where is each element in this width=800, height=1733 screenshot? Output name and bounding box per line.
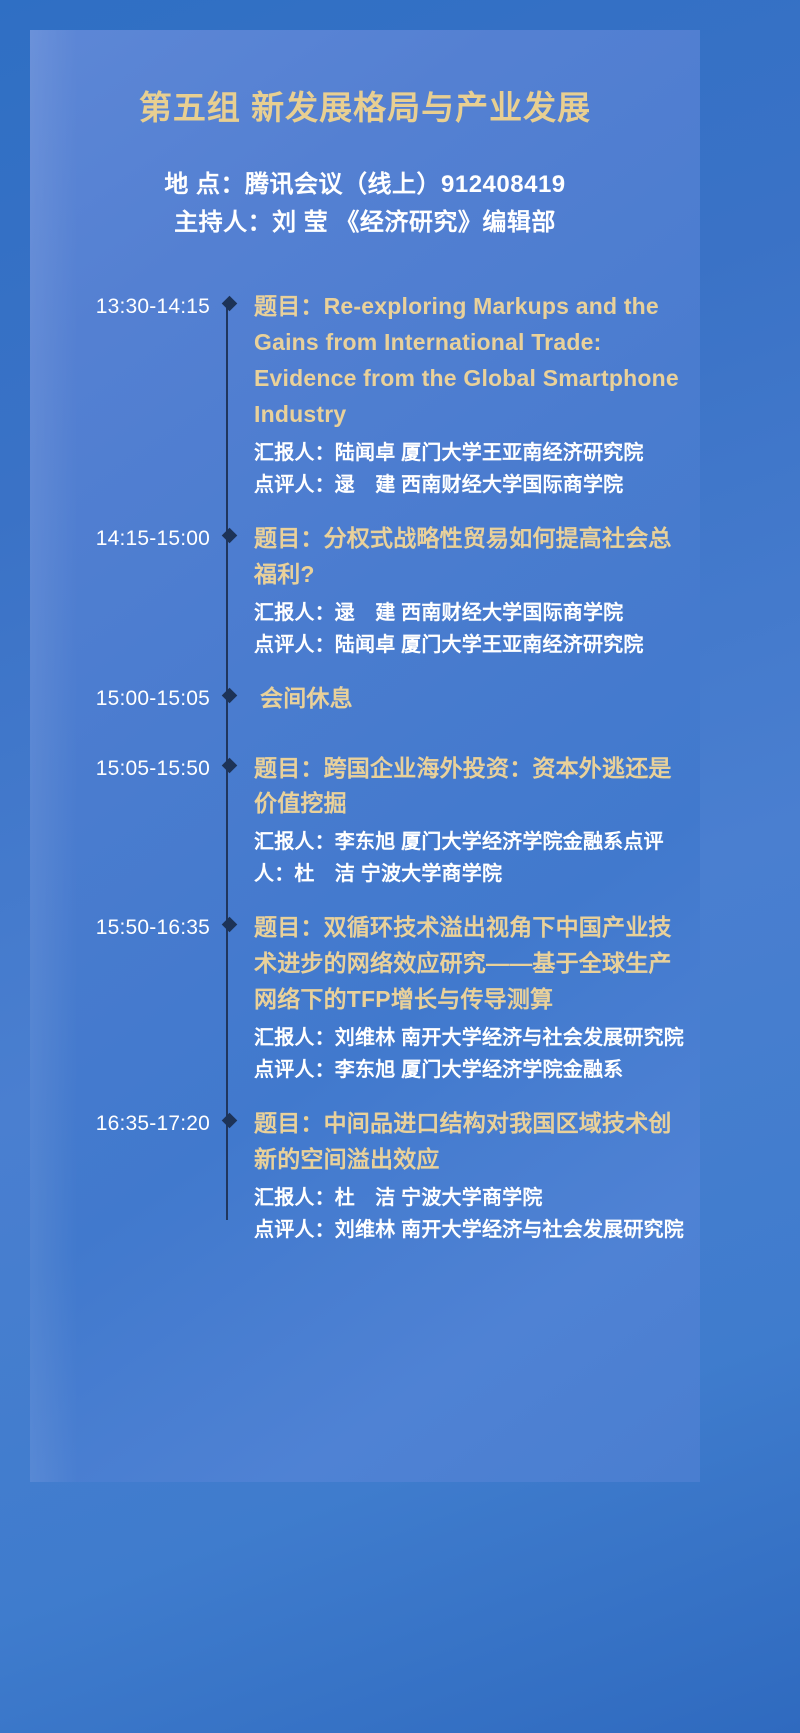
session-schedule: 13:30-14:15 题目：Re-exploring Markups and … — [30, 289, 700, 1305]
session-title: 题目：分权式战略性贸易如何提高社会总福利? — [254, 521, 692, 593]
discussant-line: 点评人：陆闻卓 厦门大学王亚南经济研究院 — [254, 629, 692, 661]
presenter-line: 汇报人：杜 洁 宁波大学商学院 — [254, 1182, 692, 1214]
group-title: 第五组 新发展格局与产业发展 — [30, 88, 700, 128]
session-time: 15:05-15:50 — [30, 751, 218, 783]
timeline-diamond-marker — [218, 910, 240, 930]
session-time: 15:50-16:35 — [30, 910, 218, 942]
session-body: 题目：跨国企业海外投资：资本外逃还是价值挖掘 汇报人：李东旭 厦门大学经济学院金… — [240, 751, 700, 891]
session-title: 题目：双循环技术溢出视角下中国产业技术进步的网络效应研究——基于全球生产网络下的… — [254, 910, 692, 1018]
timeline-diamond-marker — [218, 1106, 240, 1126]
session-time: 15:00-15:05 — [30, 681, 218, 713]
poster-header: 第五组 新发展格局与产业发展 地 点：腾讯会议（线上）912408419 主持人… — [30, 30, 700, 243]
timeline-diamond-marker — [218, 751, 240, 771]
poster-panel: 第五组 新发展格局与产业发展 地 点：腾讯会议（线上）912408419 主持人… — [30, 30, 700, 1482]
session-time: 16:35-17:20 — [30, 1106, 218, 1138]
session-time: 13:30-14:15 — [30, 289, 218, 321]
session-body: 会间休息 — [240, 681, 700, 717]
session-people: 汇报人：陆闻卓 厦门大学王亚南经济研究院 点评人：逯 建 西南财经大学国际商学院 — [254, 437, 692, 501]
session-time: 14:15-15:00 — [30, 521, 218, 553]
timeline-diamond-marker — [218, 681, 240, 701]
session-people: 汇报人：杜 洁 宁波大学商学院 点评人：刘维林 南开大学经济与社会发展研究院 — [254, 1182, 692, 1246]
presenter-line: 汇报人：陆闻卓 厦门大学王亚南经济研究院 — [254, 437, 692, 469]
session-item-break: 15:00-15:05 会间休息 — [30, 681, 700, 721]
session-item: 16:35-17:20 题目：中间品进口结构对我国区域技术创新的空间溢出效应 汇… — [30, 1106, 700, 1246]
timeline-diamond-marker — [218, 289, 240, 309]
session-item: 13:30-14:15 题目：Re-exploring Markups and … — [30, 289, 700, 501]
session-item: 15:50-16:35 题目：双循环技术溢出视角下中国产业技术进步的网络效应研究… — [30, 910, 700, 1086]
session-item: 15:05-15:50 题目：跨国企业海外投资：资本外逃还是价值挖掘 汇报人：李… — [30, 751, 700, 891]
session-body: 题目：分权式战略性贸易如何提高社会总福利? 汇报人：逯 建 西南财经大学国际商学… — [240, 521, 700, 661]
session-body: 题目：双循环技术溢出视角下中国产业技术进步的网络效应研究——基于全球生产网络下的… — [240, 910, 700, 1086]
session-title: 题目：跨国企业海外投资：资本外逃还是价值挖掘 — [254, 751, 692, 823]
session-item: 14:15-15:00 题目：分权式战略性贸易如何提高社会总福利? 汇报人：逯 … — [30, 521, 700, 661]
presenter-line: 汇报人：逯 建 西南财经大学国际商学院 — [254, 597, 692, 629]
presenter-discussant-line: 汇报人：李东旭 厦门大学经济学院金融系点评人：杜 洁 宁波大学商学院 — [254, 826, 692, 890]
session-people: 汇报人：刘维林 南开大学经济与社会发展研究院 点评人：李东旭 厦门大学经济学院金… — [254, 1022, 692, 1086]
session-body: 题目：Re-exploring Markups and the Gains fr… — [240, 289, 700, 501]
session-body: 题目：中间品进口结构对我国区域技术创新的空间溢出效应 汇报人：杜 洁 宁波大学商… — [240, 1106, 700, 1246]
discussant-line: 点评人：逯 建 西南财经大学国际商学院 — [254, 469, 692, 501]
session-title: 题目：Re-exploring Markups and the Gains fr… — [254, 289, 692, 433]
timeline-diamond-marker — [218, 521, 240, 541]
venue-info: 地 点：腾讯会议（线上）912408419 主持人：刘 莹 《经济研究》编辑部 — [30, 166, 700, 244]
venue-line: 地 点：腾讯会议（线上）912408419 — [30, 166, 700, 205]
session-people: 汇报人：逯 建 西南财经大学国际商学院 点评人：陆闻卓 厦门大学王亚南经济研究院 — [254, 597, 692, 661]
session-title: 题目：中间品进口结构对我国区域技术创新的空间溢出效应 — [254, 1106, 692, 1178]
presenter-line: 汇报人：刘维林 南开大学经济与社会发展研究院 — [254, 1022, 692, 1054]
discussant-line: 点评人：刘维林 南开大学经济与社会发展研究院 — [254, 1214, 692, 1246]
session-people: 汇报人：李东旭 厦门大学经济学院金融系点评人：杜 洁 宁波大学商学院 — [254, 826, 692, 890]
discussant-line: 点评人：李东旭 厦门大学经济学院金融系 — [254, 1054, 692, 1086]
session-title: 会间休息 — [254, 681, 692, 717]
host-line: 主持人：刘 莹 《经济研究》编辑部 — [30, 204, 700, 243]
